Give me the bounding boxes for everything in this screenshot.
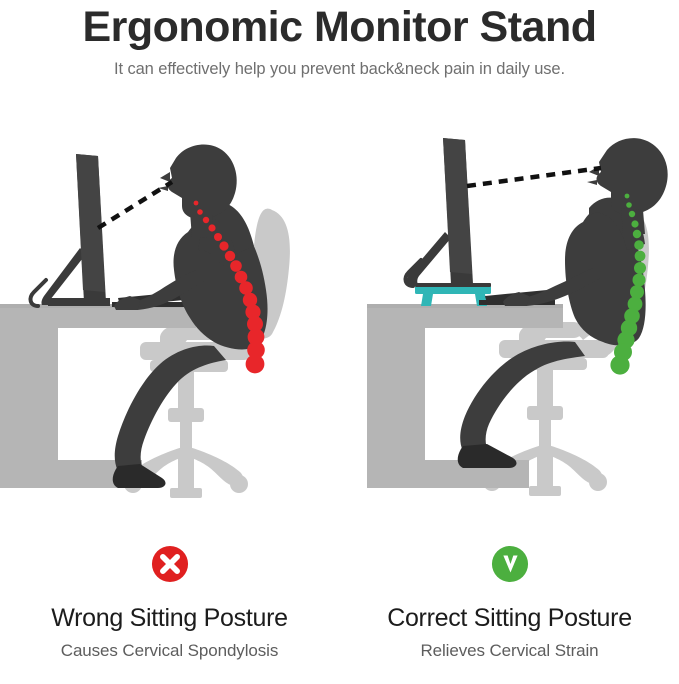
caption-correct-title: Correct Sitting Posture — [340, 583, 679, 633]
check-circle-icon — [491, 545, 529, 583]
cross-circle-icon — [151, 545, 189, 583]
monitor-wrong — [31, 154, 110, 306]
header: Ergonomic Monitor Stand It can effective… — [0, 0, 679, 80]
line-of-sight-wrong — [98, 182, 172, 228]
caption-wrong-subtitle: Causes Cervical Spondylosis — [0, 633, 339, 662]
caption-correct-subtitle: Relieves Cervical Strain — [340, 633, 679, 662]
correct-posture-illustration — [339, 120, 679, 520]
caption-wrong-title: Wrong Sitting Posture — [0, 583, 339, 633]
page-title: Ergonomic Monitor Stand — [0, 0, 679, 52]
caption-wrong: Wrong Sitting Posture Causes Cervical Sp… — [0, 545, 339, 662]
captions: Wrong Sitting Posture Causes Cervical Sp… — [0, 545, 679, 684]
wrong-posture-illustration — [0, 120, 340, 520]
illustration-panels — [0, 120, 679, 520]
line-of-sight-correct — [467, 168, 601, 186]
caption-correct: Correct Sitting Posture Relieves Cervica… — [340, 545, 679, 662]
monitor-correct — [406, 138, 473, 286]
page-subtitle: It can effectively help you prevent back… — [0, 52, 679, 80]
infographic-page: Ergonomic Monitor Stand It can effective… — [0, 0, 679, 684]
